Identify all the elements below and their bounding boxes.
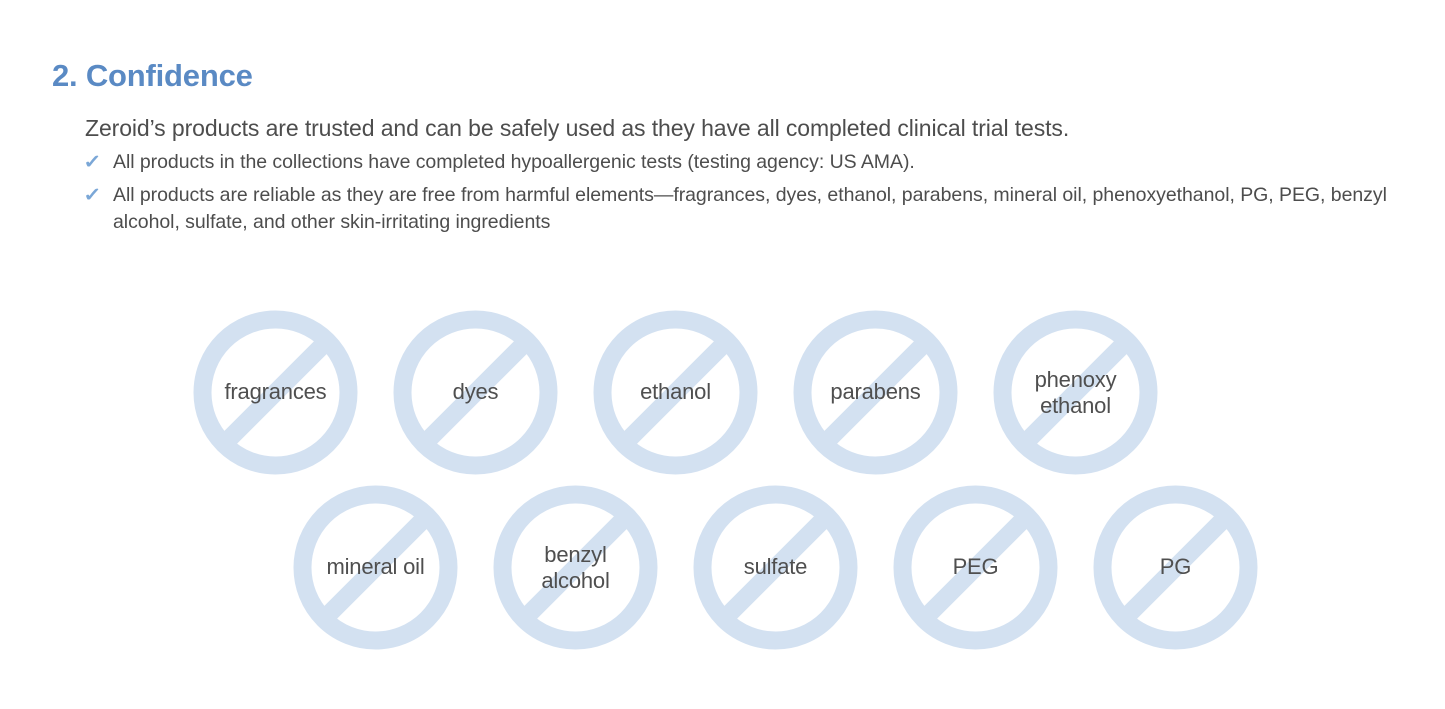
excluded-ingredient-label: ethanol: [640, 380, 711, 405]
excluded-ingredient-label: PG: [1160, 555, 1191, 580]
check-icon: ✓: [83, 184, 111, 208]
badge-row-2: mineral oilbenzylalcoholsulfatePEGPG: [293, 485, 1258, 650]
list-item-label: All products in the collections have com…: [113, 149, 1415, 176]
excluded-ingredient-badge: PG: [1093, 485, 1258, 650]
badge-row-1: fragrancesdyesethanolparabensphenoxyetha…: [193, 310, 1158, 475]
excluded-ingredient-badge: PEG: [893, 485, 1058, 650]
excluded-ingredient-badge: benzylalcohol: [493, 485, 658, 650]
list-item: ✓ All products in the collections have c…: [85, 149, 1415, 176]
list-item-label: All products are reliable as they are fr…: [85, 182, 1415, 236]
excluded-ingredient-label: dyes: [453, 380, 499, 405]
excluded-ingredient-badge: ethanol: [593, 310, 758, 475]
excluded-ingredients-graphic: fragrancesdyesethanolparabensphenoxyetha…: [0, 300, 1445, 680]
excluded-ingredient-label: PEG: [953, 555, 999, 580]
excluded-ingredient-badge: sulfate: [693, 485, 858, 650]
excluded-ingredient-label: mineral oil: [326, 555, 424, 580]
excluded-ingredient-badge: dyes: [393, 310, 558, 475]
excluded-ingredient-label: sulfate: [744, 555, 807, 580]
excluded-ingredient-label: benzylalcohol: [541, 542, 609, 592]
excluded-ingredient-badge: parabens: [793, 310, 958, 475]
check-icon: ✓: [83, 151, 111, 175]
page-title: 2. Confidence: [52, 58, 253, 94]
excluded-ingredient-badge: mineral oil: [293, 485, 458, 650]
excluded-ingredient-label: phenoxyethanol: [1035, 367, 1117, 417]
excluded-ingredient-label: fragrances: [225, 380, 327, 405]
intro-paragraph: Zeroid’s products are trusted and can be…: [85, 113, 1415, 143]
excluded-ingredient-badge: phenoxyethanol: [993, 310, 1158, 475]
confidence-text-block: Zeroid’s products are trusted and can be…: [85, 113, 1415, 240]
excluded-ingredient-label: parabens: [830, 380, 920, 405]
excluded-ingredient-badge: fragrances: [193, 310, 358, 475]
list-item: ✓ All products are reliable as they are …: [85, 182, 1415, 236]
